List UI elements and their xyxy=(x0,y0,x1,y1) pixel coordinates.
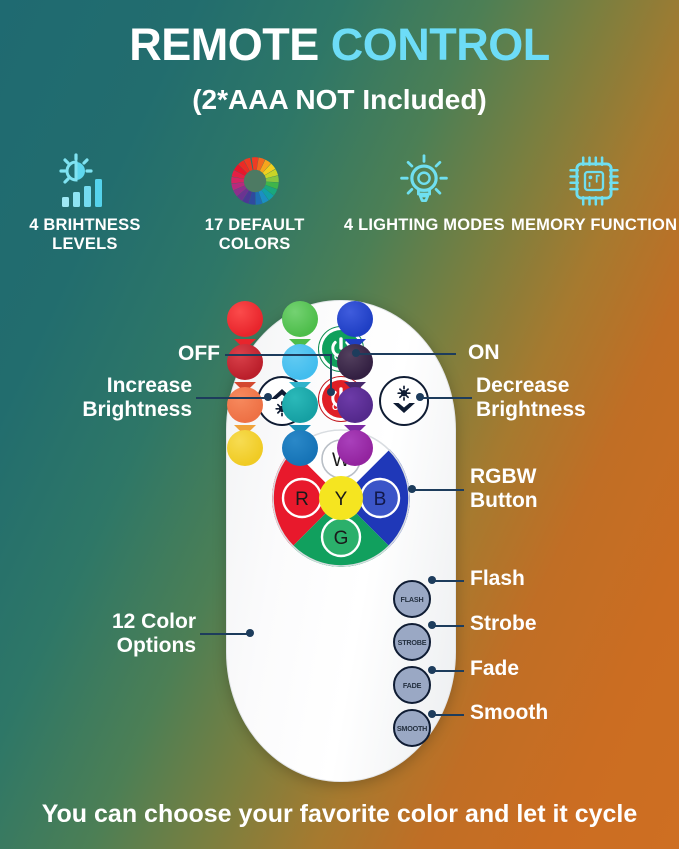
feature-label: 17 DEFAULT COLORS xyxy=(170,216,340,255)
leader-dot-flash xyxy=(428,576,436,584)
leader-dot-increase xyxy=(264,393,272,401)
leader-dot-smooth xyxy=(428,710,436,718)
leader-line-smooth xyxy=(432,714,464,716)
color-swatch[interactable] xyxy=(282,387,318,423)
infographic-canvas: REMOTE CONTROL (2*AAA NOT Included) xyxy=(0,0,679,849)
callout-smooth: Smooth xyxy=(470,701,670,725)
callout-on: ON xyxy=(468,341,668,365)
callout-fade: Fade xyxy=(470,657,670,681)
leader-line-on xyxy=(356,353,456,355)
leader-line-strobe xyxy=(432,625,464,627)
color-wheel-icon xyxy=(227,152,283,210)
feature-label: MEMORY FUNCTION xyxy=(511,216,677,235)
leader-dot-decrease xyxy=(416,393,424,401)
color-swatch[interactable] xyxy=(227,301,263,337)
callout-flash: Flash xyxy=(470,567,670,591)
feature-brightness-levels: 4 BRIHTNESS LEVELS xyxy=(0,152,170,255)
title-word-remote: REMOTE xyxy=(129,19,319,70)
callout-increase-brightness: Increase Brightness xyxy=(20,374,192,421)
brightness-bars-icon xyxy=(54,152,116,210)
color-swatch[interactable] xyxy=(282,344,318,380)
callout-strobe: Strobe xyxy=(470,612,670,636)
leader-line-flash xyxy=(432,580,464,582)
mode-button-flash[interactable]: FLASH xyxy=(393,580,431,618)
title-word-control: CONTROL xyxy=(331,19,550,70)
leader-line-colors xyxy=(200,633,250,635)
feature-lighting-modes: 4 LIGHTING MODES xyxy=(340,152,510,255)
callout-decrease-brightness: Decrease Brightness xyxy=(476,374,676,421)
decrease-brightness-button[interactable] xyxy=(379,376,429,426)
leader-line-off xyxy=(225,354,330,356)
color-swatch[interactable] xyxy=(337,301,373,337)
leader-dot-fade xyxy=(428,666,436,674)
leader-line-off-vertical xyxy=(330,354,332,392)
leader-line-rgbw xyxy=(412,489,464,491)
feature-row: 4 BRIHTNESS LEVELS xyxy=(0,152,679,255)
remote-control-body: ON OFF xyxy=(226,300,456,782)
leader-dot-on xyxy=(352,349,360,357)
feature-label: 4 BRIHTNESS LEVELS xyxy=(0,216,170,255)
feature-label: 4 LIGHTING MODES xyxy=(344,216,505,235)
feature-memory-function: MEMORY FUNCTION xyxy=(509,152,679,255)
leader-line-decrease xyxy=(420,397,472,399)
color-swatch[interactable] xyxy=(282,301,318,337)
leader-dot-off xyxy=(327,388,335,396)
color-swatch[interactable] xyxy=(282,430,318,466)
page-subtitle: (2*AAA NOT Included) xyxy=(0,84,679,116)
feature-default-colors: 17 DEFAULT COLORS xyxy=(170,152,340,255)
color-swatch[interactable] xyxy=(227,387,263,423)
color-swatch[interactable] xyxy=(227,344,263,380)
wheel-yellow-label: Y xyxy=(335,489,348,510)
leader-dot-colors xyxy=(246,629,254,637)
wheel-blue-label: B xyxy=(374,489,387,510)
wheel-red-label: R xyxy=(295,489,309,510)
mode-button-strobe[interactable]: STROBE xyxy=(393,623,431,661)
leader-line-fade xyxy=(432,670,464,672)
color-swatch[interactable] xyxy=(337,430,373,466)
wheel-green-label: G xyxy=(334,528,349,549)
page-title: REMOTE CONTROL xyxy=(0,22,679,67)
mode-button-smooth[interactable]: SMOOTH xyxy=(393,709,431,747)
leader-dot-rgbw xyxy=(408,485,416,493)
color-swatch[interactable] xyxy=(227,430,263,466)
callout-rgbw-button: RGBW Button xyxy=(470,465,670,512)
leader-line-increase xyxy=(196,397,268,399)
color-swatch[interactable] xyxy=(337,387,373,423)
microchip-icon xyxy=(567,152,621,210)
mode-button-fade[interactable]: FADE xyxy=(393,666,431,704)
footer-caption: You can choose your favorite color and l… xyxy=(0,800,679,829)
callout-off: OFF xyxy=(60,342,220,366)
leader-dot-strobe xyxy=(428,621,436,629)
lightbulb-icon xyxy=(396,152,452,210)
callout-color-options: 12 Color Options xyxy=(20,610,196,657)
